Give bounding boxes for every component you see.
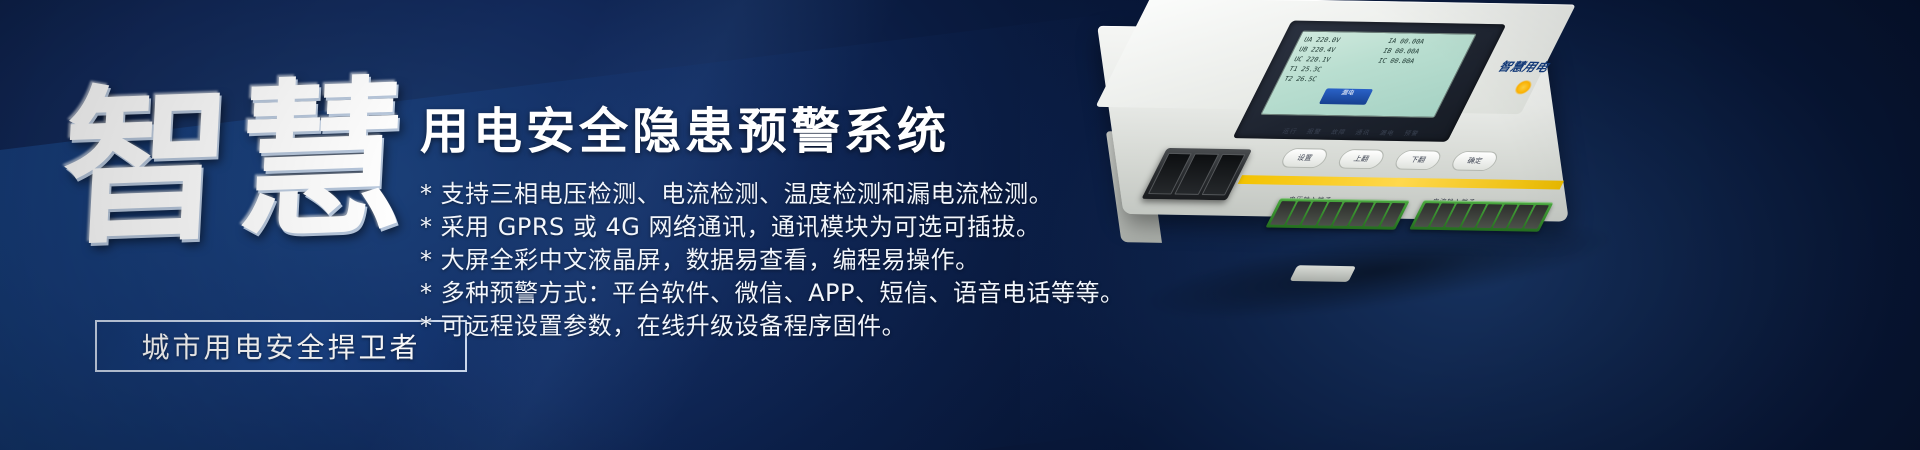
lcd-cell: UB 220.4V [1297,45,1379,55]
din-rail-clip [1290,265,1357,282]
lcd-cell: UA 220.0V [1302,36,1384,46]
device-terminal-block-current [1409,200,1553,232]
calligraphy-brandmark: 智慧 [64,12,410,313]
lcd-cell [1366,76,1448,86]
lcd-cell: UC 220.1V [1292,55,1374,65]
lcd-readout-grid: UA 220.0V IA 00.00A UB 220.4V IB 00.00A … [1282,36,1468,87]
promo-banner: 智慧 城市用电安全捍卫者 用电安全隐患预警系统 * 支持三相电压检测、电流检测、… [0,0,1920,450]
device-setting-button[interactable]: 设置 [1278,148,1330,168]
list-item: * 大屏全彩中文液晶屏，数据易查看，编程易操作。 [420,244,1120,277]
feature-list: * 支持三相电压检测、电流检测、温度检测和漏电流检测。 * 采用 GPRS 或 … [420,178,1120,343]
device-confirm-button[interactable]: 确定 [1448,151,1500,171]
status-label: 漏电 [1378,127,1397,136]
list-item: * 多种预警方式：平台软件、微信、APP、短信、语音电话等等。 [420,277,1120,310]
device-down-button[interactable]: 下翻 [1392,150,1444,170]
lcd-cell: T2 26.5C [1282,75,1364,85]
lcd-cell: T1 25.3C [1287,65,1369,75]
device-button-row: 设置 上翻 下翻 确定 [1276,143,1562,177]
lcd-badge-label: 漏电 [1322,89,1373,98]
lcd-cell: IC 00.00A [1376,57,1458,67]
status-label: 报警 [1306,126,1325,135]
page-title: 用电安全隐患预警系统 [420,92,950,163]
list-item: * 支持三相电压检测、电流检测、温度检测和漏电流检测。 [420,178,1120,211]
list-item: * 可远程设置参数，在线升级设备程序固件。 [420,310,1120,343]
status-label: 通讯 [1354,127,1373,136]
device-terminal-block-voltage [1265,198,1409,230]
tagline-text: 城市用电安全捍卫者 [141,326,420,366]
status-label: 故障 [1330,126,1349,135]
status-label: 预警 [1403,128,1422,137]
product-device-image: UA 220.0V IA 00.00A UB 220.4V IB 00.00A … [1070,0,1670,373]
lcd-cell: IA 00.00A [1386,37,1468,47]
status-label: 运行 [1281,126,1300,135]
list-item: * 采用 GPRS 或 4G 网络通讯，通讯模块为可选可插拔。 [420,211,1120,244]
tagline-box: 城市用电安全捍卫者 [95,320,467,372]
lcd-cell [1371,66,1453,76]
device-up-button[interactable]: 上翻 [1335,149,1387,169]
lcd-leakage-badge: 漏电 [1319,88,1373,104]
lcd-cell: IB 00.00A [1381,47,1463,57]
